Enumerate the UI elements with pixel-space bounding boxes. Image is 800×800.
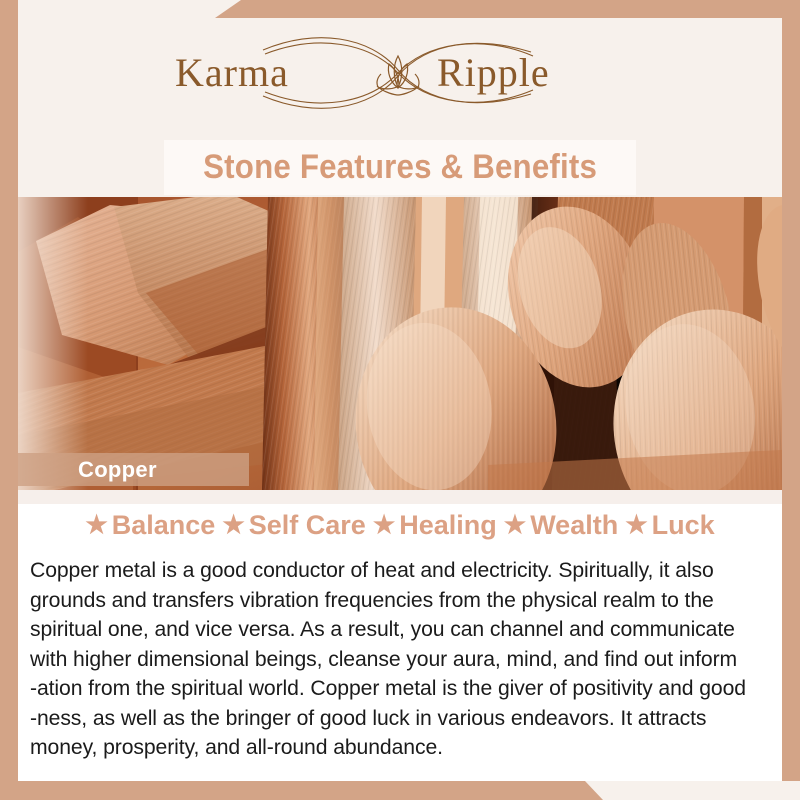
benefit-item-self-care: ★Self Care [215, 510, 365, 541]
benefit-item-balance: ★Balance [85, 510, 215, 541]
benefit-label: Self Care [249, 510, 366, 541]
section-title-band: Stone Features & Benefits [164, 140, 636, 195]
benefit-label: Healing [399, 510, 497, 541]
benefit-item-wealth: ★Wealth [497, 510, 618, 541]
star-icon: ★ [625, 513, 647, 538]
description-line: money, prosperity, and all-round abundan… [30, 733, 769, 763]
description-line: Copper metal is a good conductor of heat… [30, 556, 769, 586]
benefit-item-healing: ★Healing [366, 510, 497, 541]
hero-caption: Copper [78, 457, 157, 483]
hero-caption-band: Copper [18, 453, 249, 486]
benefit-label: Balance [112, 510, 216, 541]
frame-rail-right [782, 0, 800, 800]
brand-logo: Karma Ripple [0, 28, 800, 118]
description-line: spiritual one, and vice versa. As a resu… [30, 615, 769, 645]
footer-cream-fill [585, 781, 800, 800]
description-line: with higher dimensional beings, cleanse … [30, 645, 769, 675]
header-tan-wedge [215, 0, 800, 18]
brand-name-left: Karma [175, 50, 289, 95]
brand-name-right: Ripple [437, 50, 550, 95]
star-icon: ★ [85, 513, 107, 538]
infographic-canvas: Karma Ripple Stone Features & Benefits [0, 0, 800, 800]
benefits-list: ★Balance★Self Care★Healing★Wealth★Luck [18, 508, 782, 542]
star-icon: ★ [504, 513, 526, 538]
benefit-label: Luck [652, 510, 715, 541]
benefit-item-luck: ★Luck [618, 510, 714, 541]
star-icon: ★ [222, 513, 244, 538]
hero-image [18, 197, 800, 490]
benefit-label: Wealth [530, 510, 618, 541]
content-panel-tint [18, 490, 782, 504]
star-icon: ★ [373, 513, 395, 538]
description-line: grounds and transfers vibration frequenc… [30, 586, 769, 616]
description-line: -ness, as well as the bringer of good lu… [30, 704, 769, 734]
page-title: Stone Features & Benefits [203, 148, 597, 187]
frame-rail-left [0, 0, 18, 800]
description-text: Copper metal is a good conductor of heat… [30, 556, 780, 763]
description-line: -ation from the spiritual world. Copper … [30, 674, 769, 704]
